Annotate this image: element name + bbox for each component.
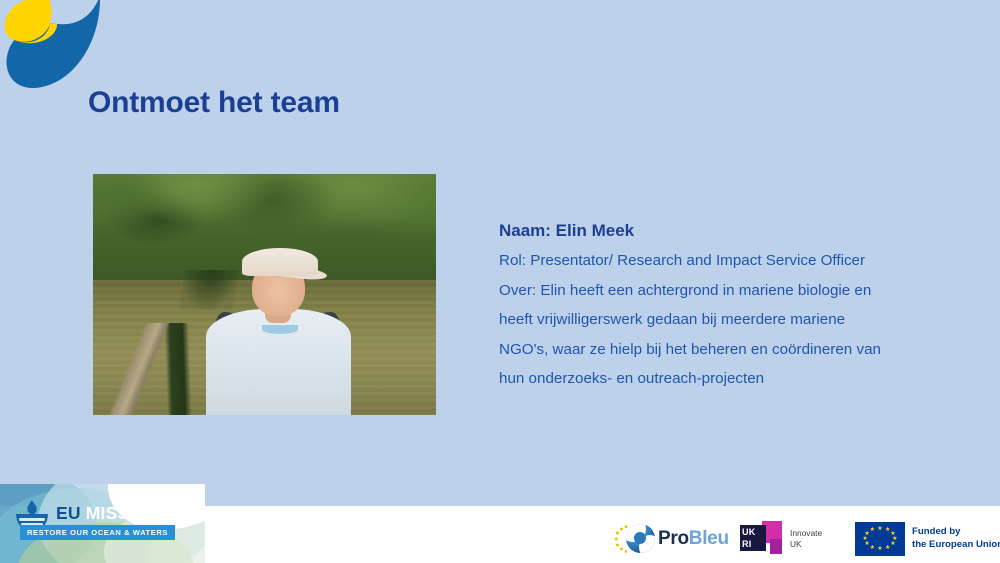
ukri-mark: UK RI — [740, 525, 766, 551]
eu-missions-eu-text: EU — [56, 503, 81, 523]
eu-funding-wordmark: Funded by the European Union — [912, 526, 1000, 551]
slide-canvas: Ontmoet het team Naam: Elin Meek Rol: Pr… — [0, 0, 1000, 563]
bio-name: Naam: Elin Meek — [499, 216, 939, 246]
probleu-logo: ProBleu — [612, 521, 724, 557]
eu-funding-line-2: the European Union — [912, 539, 1000, 552]
ukri-mark-line-2: RI — [742, 538, 766, 550]
eu-funding-logo: ★ ★ ★ ★ ★ ★ ★ ★ ★ ★ ★ ★ Funded by the Eu… — [855, 521, 995, 557]
innovate-uk-logo: UK RI Innovate UK — [740, 521, 840, 557]
innovate-uk-line-1: Innovate — [790, 528, 822, 539]
eu-flag-icon: ★ ★ ★ ★ ★ ★ ★ ★ ★ ★ ★ ★ — [855, 522, 905, 556]
bio-line-about-1: Over: Elin heeft een achtergrond in mari… — [499, 276, 939, 306]
bio-line-role: Rol: Presentator/ Research and Impact Se… — [499, 246, 939, 276]
photo-cap — [242, 248, 318, 275]
innovate-uk-wordmark: Innovate UK — [790, 528, 822, 549]
eu-missions-wordmark: EU MISSIONS — [56, 503, 173, 524]
probleu-swirl-dot — [634, 532, 646, 544]
member-photo — [93, 174, 436, 415]
ukri-mark-line-1: UK — [742, 526, 766, 538]
eu-missions-missions-text: MISSIONS — [81, 503, 173, 523]
probleu-wordmark: ProBleu — [658, 528, 729, 550]
page-title: Ontmoet het team — [88, 86, 340, 120]
photo-person — [196, 232, 361, 415]
probleu-bleu-text: Bleu — [689, 528, 729, 549]
eu-funding-line-1: Funded by — [912, 526, 1000, 539]
probleu-swirl-icon — [626, 524, 655, 553]
bio-text-block: Naam: Elin Meek Rol: Presentator/ Resear… — [499, 216, 939, 394]
bio-line-about-2: heeft vrijwilligerswerk gedaan bij meerd… — [499, 305, 939, 335]
bio-line-about-4: hun onderzoeks- en outreach-projecten — [499, 364, 939, 394]
eu-missions-tagline: RESTORE OUR OCEAN & WATERS — [20, 525, 175, 540]
bio-line-about-3: NGO's, waar ze hielp bij het beheren en … — [499, 335, 939, 365]
blue-wave-yellow-moon-logo — [0, 0, 106, 94]
ukri-magenta-block-2 — [770, 539, 782, 554]
innovate-uk-line-2: UK — [790, 539, 822, 550]
eu-missions-logo: EU MISSIONS RESTORE OUR OCEAN & WATERS — [0, 484, 205, 563]
probleu-pro-text: Pro — [658, 528, 689, 549]
